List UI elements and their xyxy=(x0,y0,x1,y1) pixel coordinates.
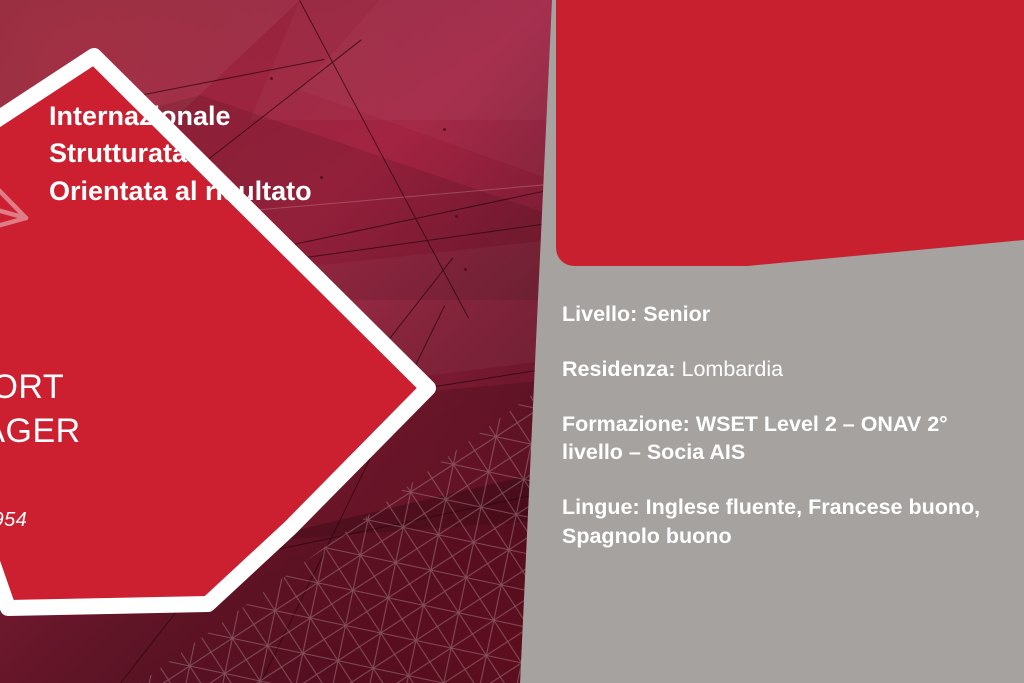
headline-line-1: Internazionale xyxy=(49,98,449,135)
candidate-details-list: Livello: Senior Residenza: Lombardia For… xyxy=(562,300,1010,551)
detail-key-formazione: Formazione: xyxy=(562,412,690,436)
detail-value-residenza: Lombardia xyxy=(682,357,784,381)
candidate-profile-card: EXPORT MANAGER id 8954 Internazionale St… xyxy=(0,0,1024,683)
headline-text-block: Internazionale Strutturata Orientata al … xyxy=(49,98,449,210)
headline-red-panel xyxy=(556,0,1024,266)
detail-row-livello: Livello: Senior xyxy=(562,300,1010,329)
headline-line-2: Strutturata xyxy=(49,135,449,172)
detail-row-lingue: Lingue: Inglese fluente, Francese buono,… xyxy=(562,493,1010,551)
detail-row-formazione: Formazione: WSET Level 2 – ONAV 2° livel… xyxy=(562,410,1010,468)
headline-line-3: Orientata al risultato xyxy=(49,173,449,210)
detail-key-residenza: Residenza: xyxy=(562,357,676,381)
detail-key-lingue: Lingue: xyxy=(562,495,640,519)
detail-key-livello: Livello: xyxy=(562,302,637,326)
detail-value-livello: Senior xyxy=(643,302,710,326)
detail-row-residenza: Residenza: Lombardia xyxy=(562,355,1010,384)
